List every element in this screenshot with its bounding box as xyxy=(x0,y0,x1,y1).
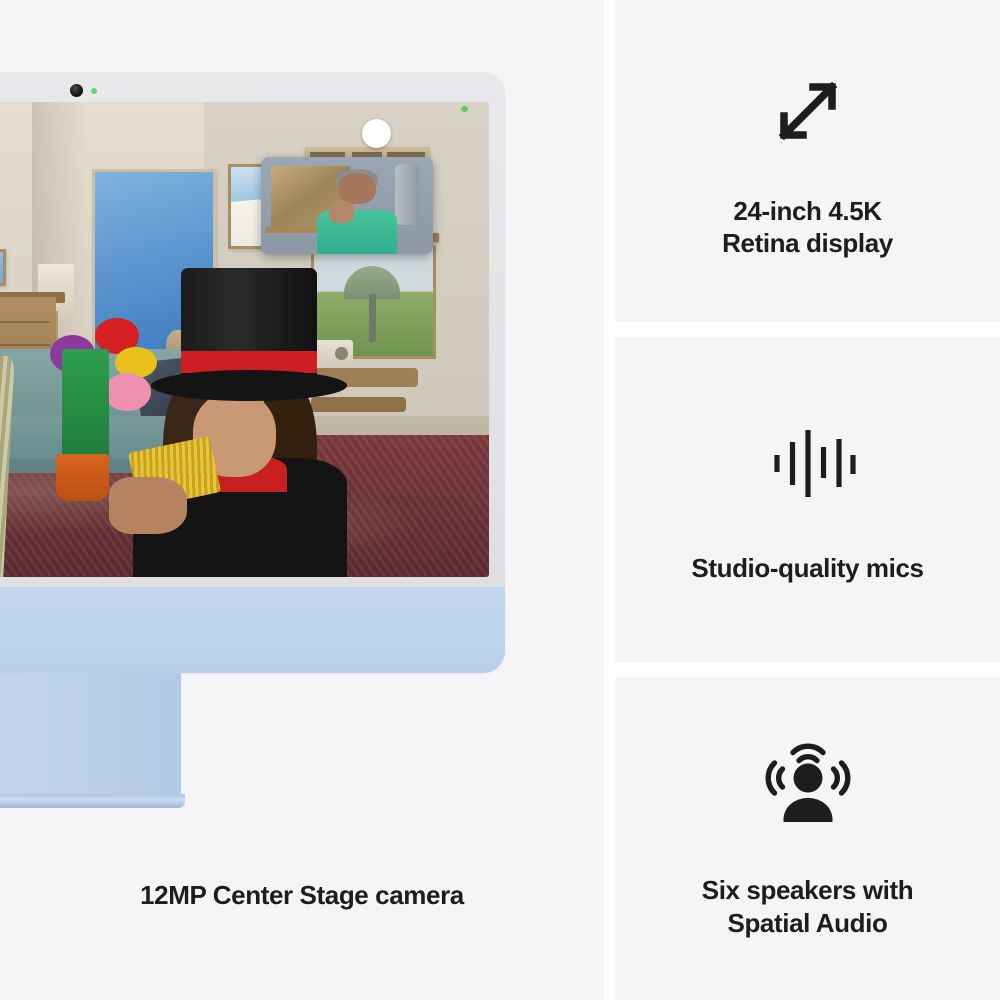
pip-person-hands xyxy=(329,201,353,222)
facetime-circle-button[interactable] xyxy=(362,119,392,148)
feature-card-mics-label: Studio-quality mics xyxy=(691,552,923,584)
imac-device-image xyxy=(0,72,505,812)
radio-dial xyxy=(335,347,348,360)
small-framed-art-a xyxy=(0,249,6,286)
flower-stems xyxy=(62,349,109,463)
feature-card-mics[interactable]: Studio-quality mics xyxy=(615,337,1000,662)
pip-person-face xyxy=(338,173,376,204)
camera-feature-caption: 12MP Center Stage camera xyxy=(0,880,604,911)
spatial-audio-person-icon xyxy=(760,738,856,834)
feature-cards-column: 24-inch 4.5K Retina display Studio-quali… xyxy=(615,0,1000,1000)
facetime-call-scene xyxy=(0,102,489,577)
terracotta-flower-pot xyxy=(56,454,109,502)
expand-diagonal-arrows-icon xyxy=(760,63,856,159)
dome-lamp-pole xyxy=(369,294,376,342)
screen-status-led xyxy=(461,106,468,113)
top-hat-brim xyxy=(151,370,347,401)
girl-arm xyxy=(109,477,186,534)
imac-chin xyxy=(0,587,505,673)
side-table-lower xyxy=(311,397,406,412)
audio-waveform-icon xyxy=(760,414,856,510)
imac-display-screen xyxy=(0,102,489,577)
flower-pink xyxy=(104,373,151,411)
feature-card-display[interactable]: 24-inch 4.5K Retina display xyxy=(615,0,1000,322)
pip-column xyxy=(395,164,419,224)
imac-stand-foot xyxy=(0,794,185,808)
camera-led-indicator xyxy=(91,88,97,94)
camera-feature-panel: 12MP Center Stage camera xyxy=(0,0,604,1000)
imac-stand xyxy=(0,673,181,801)
feature-card-display-label: 24-inch 4.5K Retina display xyxy=(722,195,893,259)
feature-card-speakers[interactable]: Six speakers with Spatial Audio xyxy=(615,677,1000,1000)
product-feature-grid: 12MP Center Stage camera 24-inch 4.5K Re… xyxy=(0,0,1000,1000)
feature-card-speakers-label: Six speakers with Spatial Audio xyxy=(702,874,913,938)
camera-icon xyxy=(70,84,83,97)
facetime-pip-window[interactable] xyxy=(261,157,433,254)
